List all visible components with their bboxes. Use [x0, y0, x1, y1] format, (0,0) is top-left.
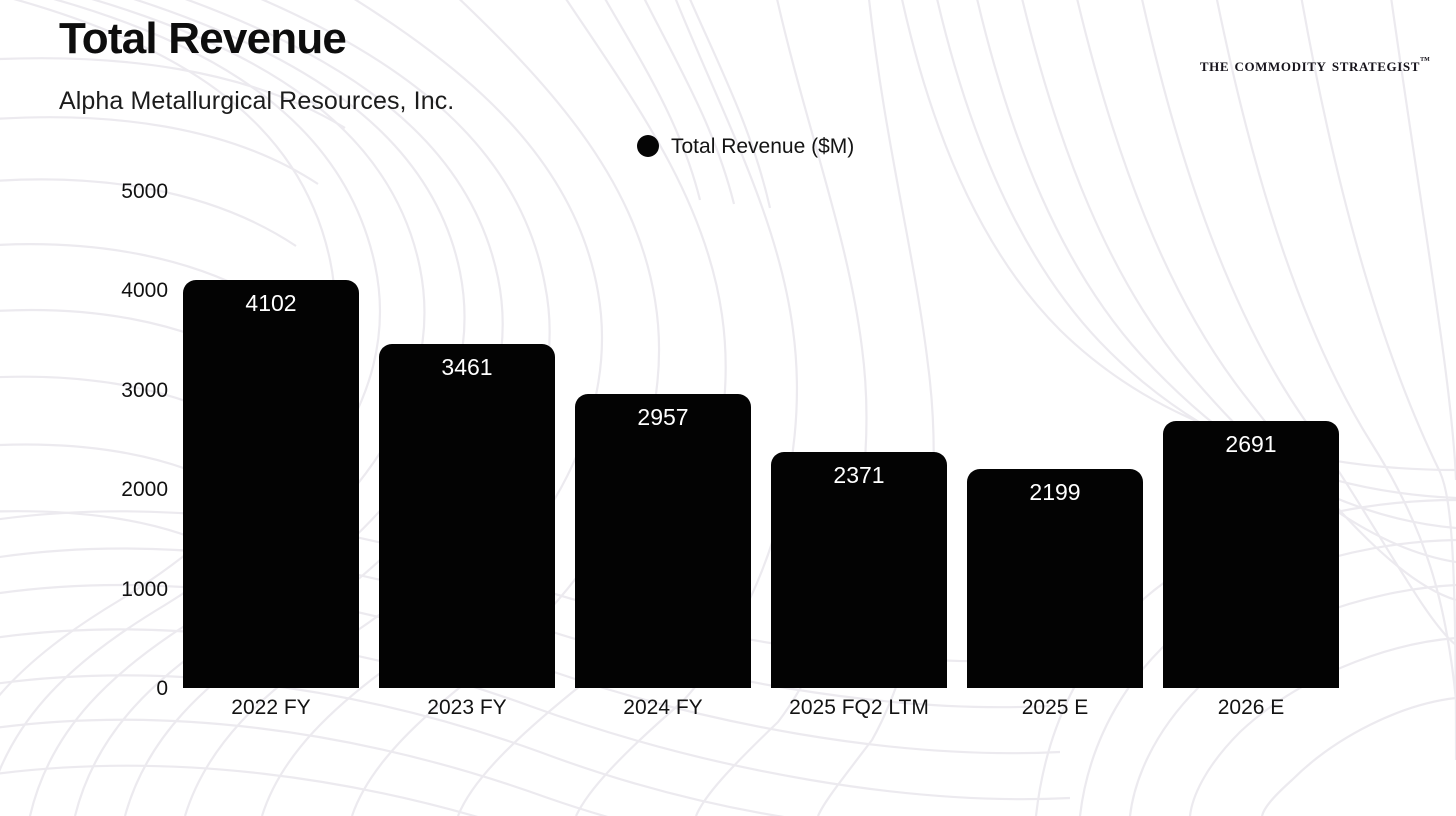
- trademark-symbol: ™: [1420, 56, 1430, 67]
- bar[interactable]: [575, 394, 751, 688]
- x-axis-tick-label: 2023 FY: [379, 697, 555, 718]
- legend-item-label: Total Revenue ($M): [671, 136, 854, 157]
- bar-group: 2957: [575, 394, 751, 688]
- legend-marker-circle-icon: [637, 135, 659, 157]
- bar-group: 4102: [183, 280, 359, 688]
- y-axis-tick-label: 4000: [60, 280, 168, 301]
- chart-subtitle: Alpha Metallurgical Resources, Inc.: [59, 89, 454, 114]
- chart-legend: Total Revenue ($M): [637, 135, 854, 157]
- y-axis-tick-label: 5000: [60, 181, 168, 202]
- bar[interactable]: [379, 344, 555, 688]
- bar[interactable]: [967, 469, 1143, 688]
- y-axis-tick-label: 1000: [60, 579, 168, 600]
- chart-page: Total Revenue Alpha Metallurgical Resour…: [0, 0, 1456, 816]
- bar-group: 2371: [771, 452, 947, 688]
- bar-group: 3461: [379, 344, 555, 688]
- bar[interactable]: [1163, 421, 1339, 688]
- x-axis-tick-label: 2025 E: [967, 697, 1143, 718]
- brand-logo-text: The Commodity Strategist: [1200, 55, 1420, 76]
- x-axis-tick-label: 2022 FY: [183, 697, 359, 718]
- y-axis-tick-label: 3000: [60, 380, 168, 401]
- bar-chart-plot: 01000200030004000500041022022 FY34612023…: [0, 0, 1456, 816]
- bar-group: 2691: [1163, 421, 1339, 688]
- y-axis-tick-label: 2000: [60, 479, 168, 500]
- page-title: Total Revenue: [59, 17, 346, 61]
- y-axis-tick-label: 0: [60, 678, 168, 699]
- x-axis-tick-label: 2026 E: [1163, 697, 1339, 718]
- x-axis-tick-label: 2024 FY: [575, 697, 751, 718]
- brand-logo: The Commodity Strategist™: [1200, 55, 1430, 77]
- bar-group: 2199: [967, 469, 1143, 688]
- bar[interactable]: [771, 452, 947, 688]
- bar[interactable]: [183, 280, 359, 688]
- x-axis-tick-label: 2025 FQ2 LTM: [771, 697, 947, 718]
